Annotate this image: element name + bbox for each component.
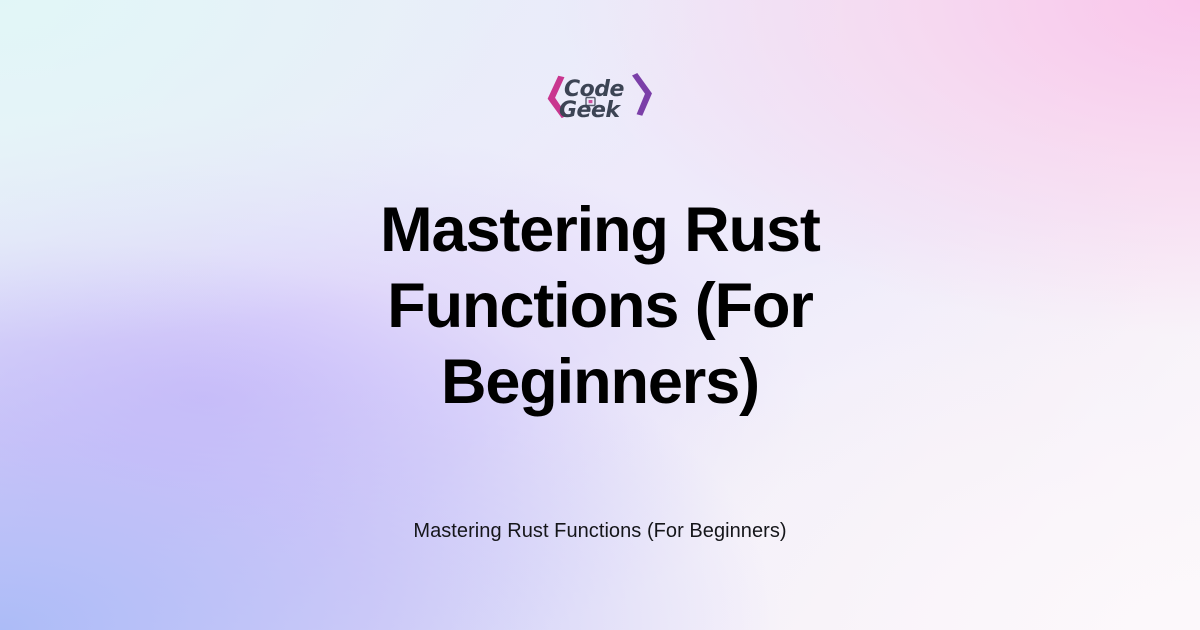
title-block: Mastering Rust Functions (For Beginners) (320, 192, 880, 420)
og-preview-card: Code Geek Mastering Rust Functions (For … (0, 0, 1200, 630)
page-subtitle: Mastering Rust Functions (For Beginners) (0, 518, 1200, 544)
logo-right-bracket-icon (632, 72, 654, 117)
card-content: Code Geek Mastering Rust Functions (For … (0, 0, 1200, 630)
subtitle-block: Mastering Rust Functions (For Beginners) (0, 518, 1200, 544)
codegeek-logo[interactable]: Code Geek (544, 66, 656, 126)
page-title: Mastering Rust Functions (For Beginners) (320, 192, 880, 420)
